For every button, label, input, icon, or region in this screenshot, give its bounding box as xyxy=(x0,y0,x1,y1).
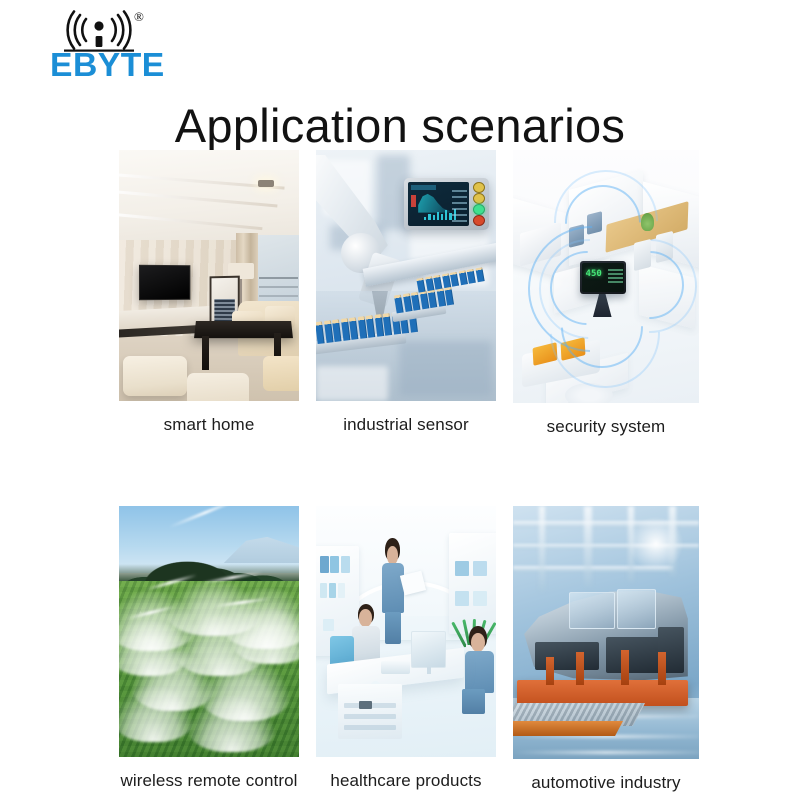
security-monitor: 450 xyxy=(580,261,627,294)
brand-logo: ® EBYTE xyxy=(50,8,200,80)
page-title: Application scenarios xyxy=(0,99,800,153)
registered-trademark-symbol: ® xyxy=(134,10,144,23)
scenario-card-automotive-industry[interactable]: automotive industry xyxy=(513,506,699,796)
scenario-image-healthcare-products xyxy=(316,506,496,757)
scenario-grid: smart home xyxy=(119,150,699,795)
scenario-card-wireless-remote-control[interactable]: wireless remote control xyxy=(119,506,299,796)
scenario-card-smart-home[interactable]: smart home xyxy=(119,150,299,440)
scenario-image-wireless-remote-control xyxy=(119,506,299,757)
security-monitor-reading: 450 xyxy=(586,270,602,279)
scenario-image-automotive-industry xyxy=(513,506,699,759)
scenario-row-2: wireless remote control xyxy=(119,506,699,796)
scenario-caption-healthcare-products: healthcare products xyxy=(311,769,501,794)
scenario-caption-automotive-industry: automotive industry xyxy=(508,771,704,796)
scenario-caption-industrial-sensor: industrial sensor xyxy=(311,413,501,438)
scenario-image-smart-home xyxy=(119,150,299,401)
brand-name: EBYTE xyxy=(50,48,165,81)
scenario-card-industrial-sensor[interactable]: industrial sensor xyxy=(316,150,496,440)
scenario-card-security-system[interactable]: 450 security system xyxy=(513,150,699,440)
scenario-caption-smart-home: smart home xyxy=(114,413,304,438)
scenario-caption-security-system: security system xyxy=(508,415,704,440)
scenario-caption-wireless-remote-control: wireless remote control xyxy=(114,769,304,794)
scenario-image-security-system: 450 xyxy=(513,150,699,403)
scenario-image-industrial-sensor xyxy=(316,150,496,401)
scenario-card-healthcare-products[interactable]: healthcare products xyxy=(316,506,496,796)
scenario-row-1: smart home xyxy=(119,150,699,440)
